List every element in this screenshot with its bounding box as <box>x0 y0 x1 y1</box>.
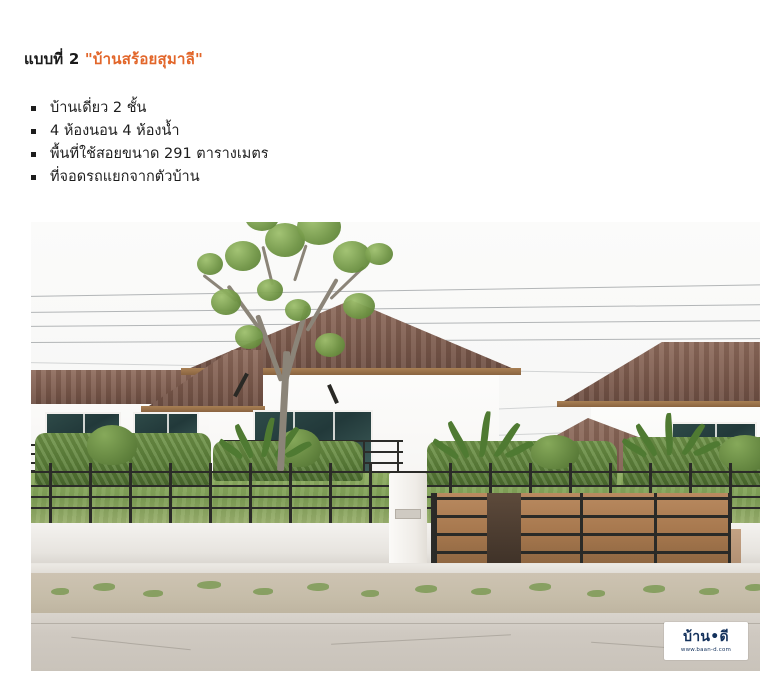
house-number-plate <box>395 509 421 519</box>
document-page: แบบที่ 2 "บ้านสร้อยสุมาลี" บ้านเดี่ยว 2 … <box>0 0 774 684</box>
page-title-prefix: แบบที่ 2 <box>24 50 85 68</box>
sliding-gate[interactable] <box>431 493 731 565</box>
fence-post <box>209 463 212 523</box>
fence-post <box>329 463 332 523</box>
weed <box>529 583 551 591</box>
fence-post <box>129 463 132 523</box>
gate-pillar <box>389 473 427 565</box>
shrub <box>87 425 137 465</box>
feature-text: 4 ห้องนอน 4 ห้องน้ำ <box>50 123 180 139</box>
feature-text: บ้านเดี่ยว 2 ชั้น <box>50 100 146 116</box>
page-title-model-name: "บ้านสร้อยสุมาลี" <box>85 50 203 68</box>
feature-text: พื้นที่ใช้สอยขนาด 291 ตารางเมตร <box>50 146 269 162</box>
fence-post <box>369 463 372 523</box>
list-item: ที่จอดรถแยกจากตัวบ้าน <box>30 166 269 189</box>
weed <box>307 583 329 591</box>
fence-post <box>169 463 172 523</box>
weed <box>415 585 437 593</box>
weed <box>587 590 605 597</box>
watermark-brand: บ้าน•ดี <box>683 630 729 644</box>
bullet-square-icon <box>31 106 36 111</box>
bullet-square-icon <box>31 175 36 180</box>
list-item: 4 ห้องนอน 4 ห้องน้ำ <box>30 120 269 143</box>
page-title: แบบที่ 2 "บ้านสร้อยสุมาลี" <box>24 47 203 71</box>
fence-post <box>289 463 292 523</box>
feature-text: ที่จอดรถแยกจากตัวบ้าน <box>50 169 200 185</box>
weed <box>361 590 379 597</box>
main-house-side-eave <box>141 406 265 412</box>
weed <box>51 588 69 595</box>
fence-post <box>49 463 52 523</box>
weed <box>471 588 491 595</box>
bullet-square-icon <box>31 152 36 157</box>
list-item: บ้านเดี่ยว 2 ชั้น <box>30 97 269 120</box>
weed <box>253 588 273 595</box>
watermark-url: www.baan-d.com <box>681 647 731 653</box>
house-photo: บ้าน•ดี www.baan-d.com <box>31 222 760 671</box>
gate-panel <box>487 493 521 565</box>
bullet-square-icon <box>31 129 36 134</box>
watermark-logo: บ้าน•ดี www.baan-d.com <box>664 622 748 660</box>
fence-post <box>89 463 92 523</box>
feature-list: บ้านเดี่ยว 2 ชั้น 4 ห้องนอน 4 ห้องน้ำ พื… <box>30 97 269 189</box>
weed <box>643 585 665 593</box>
fence-post <box>249 463 252 523</box>
concrete-road <box>31 613 760 671</box>
weed <box>93 583 115 591</box>
weed <box>143 590 163 597</box>
weed <box>197 581 221 589</box>
grass-verge <box>31 573 760 613</box>
weed <box>745 584 760 591</box>
right-wing-eave <box>557 401 760 407</box>
list-item: พื้นที่ใช้สอยขนาด 291 ตารางเมตร <box>30 143 269 166</box>
weed <box>699 588 719 595</box>
